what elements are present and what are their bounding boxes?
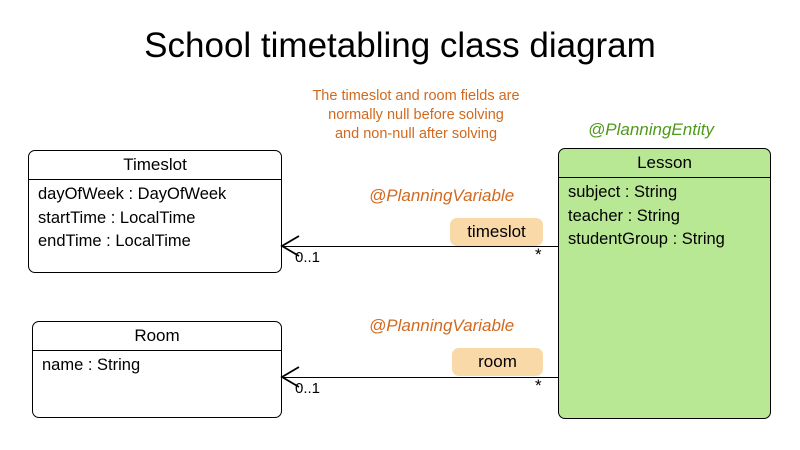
- annotation-note: The timeslot and room fields are normall…: [270, 87, 562, 144]
- attribute-row: dayOfWeek : DayOfWeek: [38, 183, 281, 207]
- multiplicity-label: 0..1: [295, 249, 320, 266]
- multiplicity-label: *: [535, 376, 542, 396]
- page-title: School timetabling class diagram: [0, 26, 800, 66]
- class-box-timeslot[interactable]: Timeslot dayOfWeek : DayOfWeek startTime…: [28, 150, 282, 273]
- class-attributes-lesson: subject : String teacher : String studen…: [559, 178, 770, 252]
- annotation-note-line-2: normally null before solving: [270, 106, 562, 125]
- stereotype-planning-variable-room: @PlanningVariable: [369, 316, 514, 336]
- class-attributes-timeslot: dayOfWeek : DayOfWeek startTime : LocalT…: [29, 180, 281, 254]
- attribute-row: startTime : LocalTime: [38, 207, 281, 231]
- attribute-row: endTime : LocalTime: [38, 230, 281, 254]
- field-badge-room[interactable]: room: [452, 348, 543, 376]
- annotation-note-line-1: The timeslot and room fields are: [270, 87, 562, 106]
- stereotype-planning-entity: @PlanningEntity: [588, 120, 714, 140]
- attribute-row: studentGroup : String: [568, 228, 770, 252]
- multiplicity-label: *: [535, 245, 542, 265]
- class-box-room[interactable]: Room name : String: [32, 321, 282, 418]
- stereotype-planning-variable-timeslot: @PlanningVariable: [369, 186, 514, 206]
- attribute-row: teacher : String: [568, 205, 770, 229]
- multiplicity-label: 0..1: [295, 380, 320, 397]
- association-line-room: [282, 377, 559, 378]
- association-line-timeslot: [282, 246, 559, 247]
- class-name-timeslot: Timeslot: [29, 151, 281, 179]
- attribute-row: name : String: [42, 354, 281, 378]
- annotation-note-line-3: and non-null after solving: [270, 125, 562, 144]
- field-badge-timeslot[interactable]: timeslot: [450, 218, 543, 246]
- attribute-row: subject : String: [568, 181, 770, 205]
- class-box-lesson[interactable]: Lesson subject : String teacher : String…: [558, 148, 771, 419]
- class-attributes-room: name : String: [33, 351, 281, 378]
- class-name-room: Room: [33, 322, 281, 350]
- class-diagram-canvas: School timetabling class diagram The tim…: [0, 0, 800, 450]
- class-name-lesson: Lesson: [559, 149, 770, 177]
